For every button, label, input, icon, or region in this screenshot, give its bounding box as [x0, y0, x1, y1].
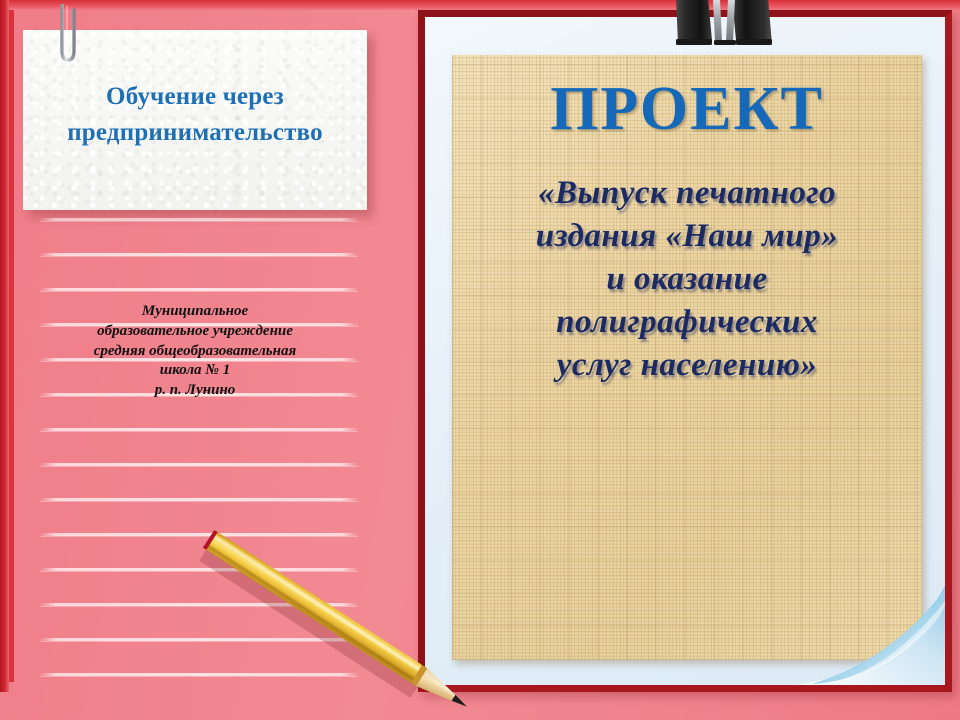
- organization-line-3: средняя общеобразовательная: [23, 342, 367, 362]
- note-card-title: Обучение через предпринимательство: [55, 79, 335, 152]
- linen-texture-card: ПРОЕКТ «Выпуск печатного издания «Наш ми…: [452, 55, 922, 660]
- project-subtitle-line-4: полиграфических: [556, 304, 818, 340]
- note-card-title-line-2: предпринимательство: [67, 119, 323, 146]
- left-note-page: Обучение через предпринимательство Муниц…: [9, 10, 409, 692]
- organization-line-5: р. п. Лунино: [23, 381, 367, 401]
- organization-line-4: школа № 1: [23, 361, 367, 381]
- top-edge-strip: [0, 0, 960, 10]
- project-subtitle-line-2: издания «Наш мир»: [536, 218, 838, 254]
- project-subtitle-line-5: услуг населению»: [557, 347, 818, 383]
- right-project-page: ПРОЕКТ «Выпуск печатного издания «Наш ми…: [418, 10, 952, 692]
- project-subtitle-line-3: и оказание: [606, 261, 767, 297]
- paperclip-icon: [55, 4, 81, 70]
- left-binding-spine: [0, 0, 9, 692]
- binder-clip-icon: [668, 0, 784, 50]
- presentation-slide: Обучение через предпринимательство Муниц…: [0, 0, 960, 720]
- project-heading: ПРОЕКТ: [550, 77, 824, 142]
- note-card-title-line-1: Обучение через: [106, 83, 284, 110]
- project-subtitle: «Выпуск печатного издания «Наш мир» и ок…: [472, 172, 902, 386]
- organization-line-2: образовательное учреждение: [23, 322, 367, 342]
- project-subtitle-line-1: «Выпуск печатного: [538, 175, 836, 211]
- organization-block: Муниципальное образовательное учреждение…: [23, 302, 367, 401]
- organization-line-1: Муниципальное: [23, 302, 367, 322]
